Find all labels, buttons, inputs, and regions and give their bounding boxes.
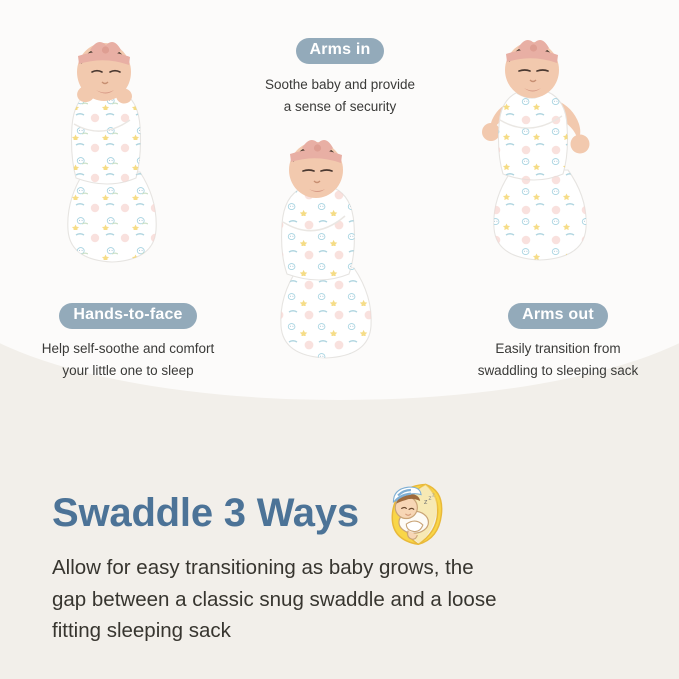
baby-swaddled-hands-to-face-illustration <box>28 20 228 290</box>
baby-photo-arms-out <box>438 20 678 295</box>
status-badge-arms-out: Arms out <box>508 303 608 329</box>
sleeping-baby-on-moon-icon: z z z <box>373 478 447 548</box>
svg-text:z: z <box>424 497 428 506</box>
baby-photo-arms-in <box>220 126 460 386</box>
caption-line: Easily transition from <box>495 341 620 356</box>
svg-text:z: z <box>432 492 435 498</box>
baby-swaddled-arms-out-illustration <box>458 20 658 290</box>
caption-arms-in: Soothe baby and provide a sense of secur… <box>220 74 460 118</box>
caption-line: your little one to sleep <box>62 363 193 378</box>
feature-column-arms-in: Arms in Soothe baby and provide a sense … <box>220 38 460 386</box>
body-copy-line: Allow for easy transitioning as baby gro… <box>52 552 648 584</box>
caption-line: swaddling to sleeping sack <box>478 363 639 378</box>
caption-arms-out: Easily transition from swaddling to slee… <box>438 338 678 382</box>
body-copy-line: fitting sleeping sack <box>52 615 648 647</box>
status-badge-hands-to-face: Hands-to-face <box>59 303 196 329</box>
feature-column-hands-to-face: Hands-to-face Help self-soothe and comfo… <box>8 20 248 382</box>
promo-headline-row: Swaddle 3 Ways z z z <box>52 478 447 548</box>
status-badge-arms-in: Arms in <box>296 38 385 64</box>
caption-line: a sense of security <box>284 99 397 114</box>
promo-body-copy: Allow for easy transitioning as baby gro… <box>52 552 648 647</box>
caption-hands-to-face: Help self-soothe and comfort your little… <box>8 338 248 382</box>
infographic-root: Hands-to-face Help self-soothe and comfo… <box>0 0 679 679</box>
features-row: Hands-to-face Help self-soothe and comfo… <box>0 0 679 395</box>
svg-text:z: z <box>428 495 431 502</box>
badge-wrap-arms-in: Arms in <box>220 38 460 64</box>
badge-wrap-hands-to-face: Hands-to-face <box>8 303 248 329</box>
caption-line: Soothe baby and provide <box>265 77 415 92</box>
baby-photo-hands-to-face <box>8 20 248 295</box>
badge-wrap-arms-out: Arms out <box>438 303 678 329</box>
caption-line: Help self-soothe and comfort <box>42 341 215 356</box>
feature-column-arms-out: Arms out Easily transition from swaddlin… <box>438 20 678 382</box>
baby-swaddled-arms-in-illustration <box>240 126 440 381</box>
page-title: Swaddle 3 Ways <box>52 493 359 533</box>
body-copy-line: gap between a classic snug swaddle and a… <box>52 584 648 616</box>
